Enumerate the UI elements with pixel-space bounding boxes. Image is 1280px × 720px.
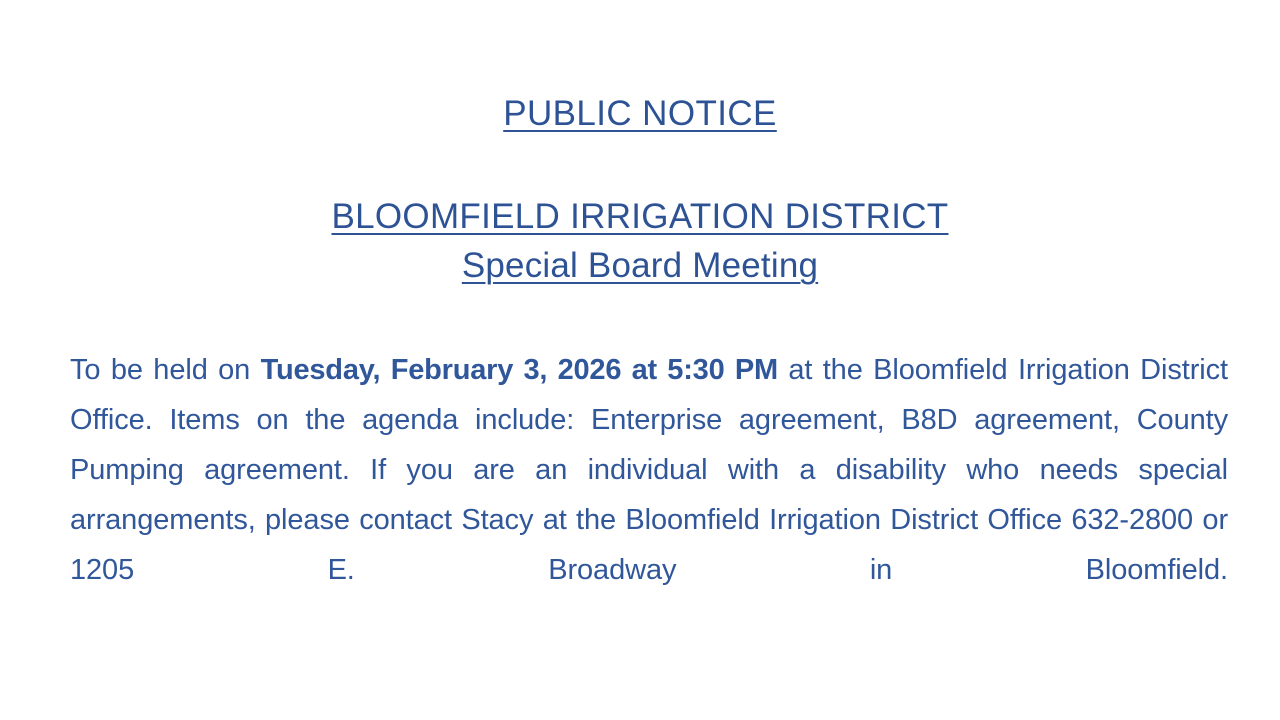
notice-title-block: PUBLIC NOTICE	[0, 92, 1280, 136]
body-intro-text: To be held on	[70, 354, 261, 386]
meeting-type-row: Special Board Meeting	[0, 244, 1280, 288]
public-notice-slide: PUBLIC NOTICE BLOOMFIELD IRRIGATION DIST…	[0, 0, 1280, 720]
meeting-datetime-emphasis: Tuesday, February 3, 2026 at 5:30 PM	[261, 354, 778, 386]
body-remainder-text: at the Bloomfield Irrigation District Of…	[70, 354, 1228, 586]
page-title: PUBLIC NOTICE	[503, 92, 777, 136]
organization-name: BLOOMFIELD IRRIGATION DISTRICT	[331, 194, 948, 240]
notice-body-block: To be held on Tuesday, February 3, 2026 …	[70, 345, 1228, 645]
meeting-type-subtitle: Special Board Meeting	[462, 244, 818, 288]
organization-heading-block: BLOOMFIELD IRRIGATION DISTRICT Special B…	[0, 194, 1280, 288]
notice-body-paragraph: To be held on Tuesday, February 3, 2026 …	[70, 345, 1228, 645]
